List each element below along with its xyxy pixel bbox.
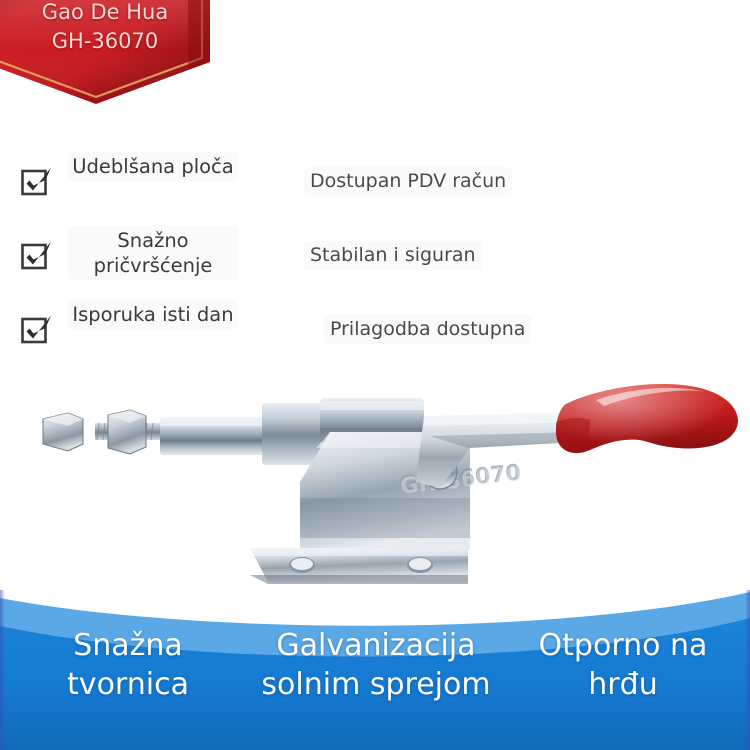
product-poster: Gao De Hua GH-36070 Udeblšana ploča Dost… [0, 0, 750, 750]
ribbon-shape-icon [0, 0, 210, 108]
checkbox-checked-icon [20, 165, 54, 197]
feature-right-label: Dostupan PDV račun [304, 167, 512, 196]
feature-row: Udeblšana ploča Dostupan PDV račun [0, 145, 750, 213]
feature-left-label: Isporuka isti dan [68, 300, 238, 329]
feature-left-label: Udeblšana ploča [68, 152, 238, 181]
checkbox-checked-icon [20, 313, 54, 345]
feature-row: Isporuka isti dan Prilagodba dostupna [0, 293, 750, 361]
feature-left-label: Snažno pričvršćenje [68, 226, 238, 280]
feature-right-label: Prilagodba dostupna [324, 315, 531, 344]
brand-ribbon: Gao De Hua GH-36070 [0, 0, 210, 108]
checkbox-checked-icon [20, 239, 54, 271]
footer-column-2: Galvanizacija solnim sprejom [242, 626, 510, 704]
checkbox-glyph [20, 165, 54, 197]
left-edge-accent [0, 590, 5, 750]
checkbox-glyph [20, 313, 54, 345]
right-edge-accent [745, 590, 750, 750]
footer-banner: Snažna tvornica Galvanizacija solnim spr… [0, 590, 750, 750]
feature-list: Udeblšana ploča Dostupan PDV račun Snažn… [0, 137, 750, 357]
feature-row: Snažno pričvršćenje Stabilan i siguran [0, 219, 750, 287]
feature-right-label: Stabilan i siguran [304, 241, 482, 270]
checkbox-glyph [20, 239, 54, 271]
footer-columns: Snažna tvornica Galvanizacija solnim spr… [0, 626, 750, 704]
footer-column-3: Otporno na hrđu [510, 626, 736, 704]
footer-column-1: Snažna tvornica [14, 626, 242, 704]
